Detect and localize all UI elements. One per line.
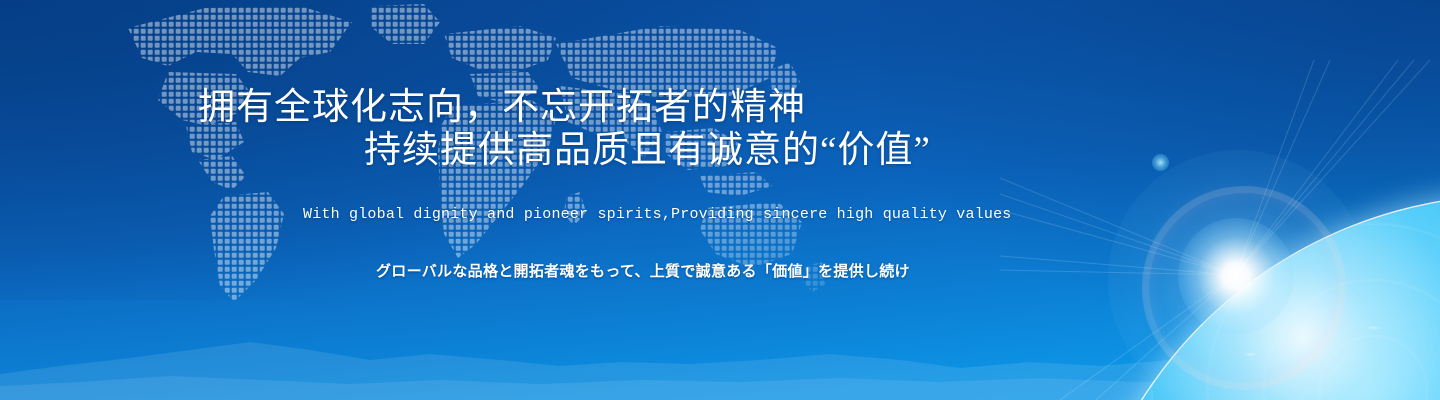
planet-arc-rings: [1074, 196, 1440, 400]
corner-vignette-top-left: [0, 0, 760, 300]
banner-copy: 拥有全球化志向，不忘开拓者的精神 持续提供高品质且有诚意的“价值” With g…: [0, 0, 1440, 400]
dotted-world-map-graphic: [0, 0, 830, 330]
planet-limb-highlight: [1074, 196, 1440, 400]
corner-vignette-top-right: [880, 0, 1440, 320]
subline-english: With global dignity and pioneer spirits,…: [303, 206, 1012, 223]
planet-sphere: [1074, 196, 1440, 400]
sun-burst-graphic: [1178, 218, 1294, 334]
mountain-horizon-graphic: [0, 320, 1440, 400]
headline-line-2: 持续提供高品质且有诚意的“价值”: [364, 132, 931, 170]
hero-banner: 拥有全球化志向，不忘开拓者的精神 持续提供高品质且有诚意的“价值” With g…: [0, 0, 1440, 400]
headline-line-1: 拥有全球化志向，不忘开拓者的精神: [198, 89, 806, 127]
sun-rays-graphic: [1000, 60, 1440, 400]
lens-flare-ring: [1142, 186, 1346, 390]
planet-earth-graphic: [1020, 0, 1440, 400]
subline-japanese: グローバルな品格と開拓者魂をもって、上質で誠意ある「価値」を提供し続け: [376, 260, 910, 281]
sun-glow: [1108, 150, 1368, 400]
planet-cloud-texture: [1074, 196, 1440, 400]
lens-flare-dot: [1152, 154, 1169, 171]
